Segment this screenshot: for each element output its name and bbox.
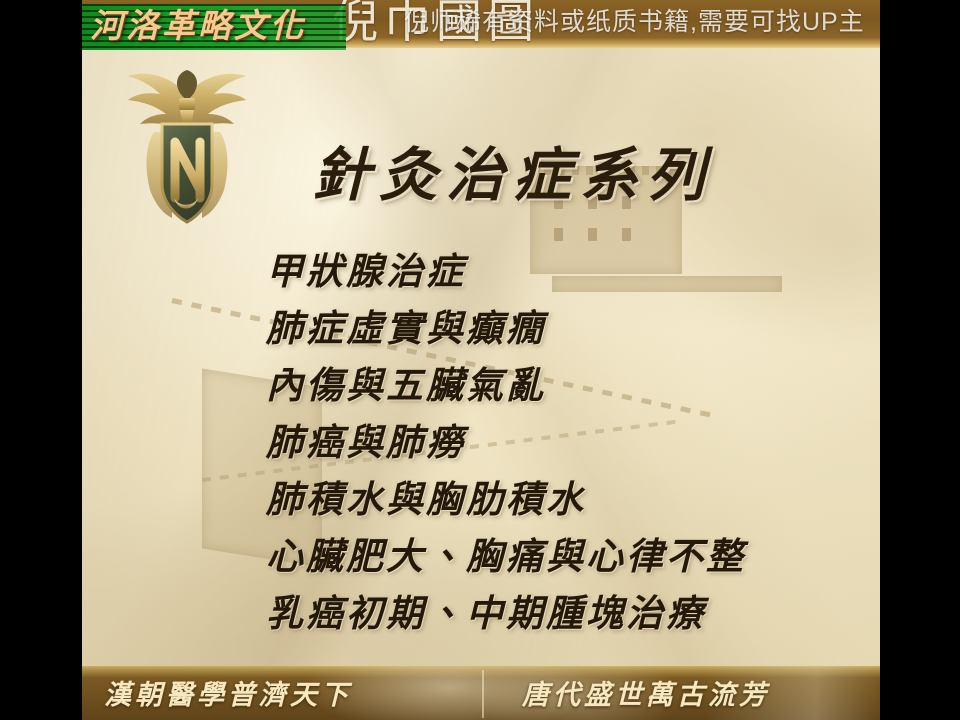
tower-window bbox=[588, 228, 597, 241]
eagle-shield-emblem bbox=[122, 60, 252, 230]
pillarbox-right bbox=[880, 0, 960, 720]
slide-panel: 針灸治症系列 甲狀腺治症 肺症虛實與癲癇 內傷與五臟氣亂 肺癌與肺癆 肺積水與胸… bbox=[82, 0, 880, 720]
slide-title: 針灸治症系列 bbox=[312, 140, 714, 212]
channel-brand-title: 河洛革略文化 bbox=[90, 6, 306, 48]
slide-footer-band: 漢朝醫學普濟天下 唐代盛世萬古流芳 bbox=[82, 666, 880, 720]
pillarbox-left bbox=[0, 0, 82, 720]
video-stage: 針灸治症系列 甲狀腺治症 肺症虛實與癲癇 內傷與五臟氣亂 肺癌與肺癆 肺積水與胸… bbox=[0, 0, 960, 720]
tower-window bbox=[554, 228, 563, 241]
footer-left-text: 漢朝醫學普濟天下 bbox=[104, 678, 352, 712]
slide-line: 乳癌初期、中期腫塊治療 bbox=[266, 586, 866, 643]
footer-divider bbox=[482, 670, 484, 718]
slide-line: 心臟肥大、胸痛與心律不整 bbox=[266, 529, 866, 586]
slide-line: 肺症虛實與癲癇 bbox=[266, 301, 866, 358]
slide-line: 肺積水與胸肋積水 bbox=[266, 472, 866, 529]
footer-right-text: 唐代盛世萬古流芳 bbox=[522, 678, 770, 712]
slide-line: 肺癌與肺癆 bbox=[266, 415, 866, 472]
slide-line: 內傷與五臟氣亂 bbox=[266, 358, 866, 415]
uploader-watermark-text: 倪师稀有资料或纸质书籍,需要可找UP主 bbox=[404, 6, 960, 38]
slide-background: 針灸治症系列 甲狀腺治症 肺症虛實與癲癇 內傷與五臟氣亂 肺癌與肺癆 肺積水與胸… bbox=[82, 48, 880, 666]
slide-line: 甲狀腺治症 bbox=[266, 244, 866, 301]
tower-window bbox=[622, 228, 631, 241]
slide-line-list: 甲狀腺治症 肺症虛實與癲癇 內傷與五臟氣亂 肺癌與肺癆 肺積水與胸肋積水 心臟肥… bbox=[266, 244, 866, 643]
